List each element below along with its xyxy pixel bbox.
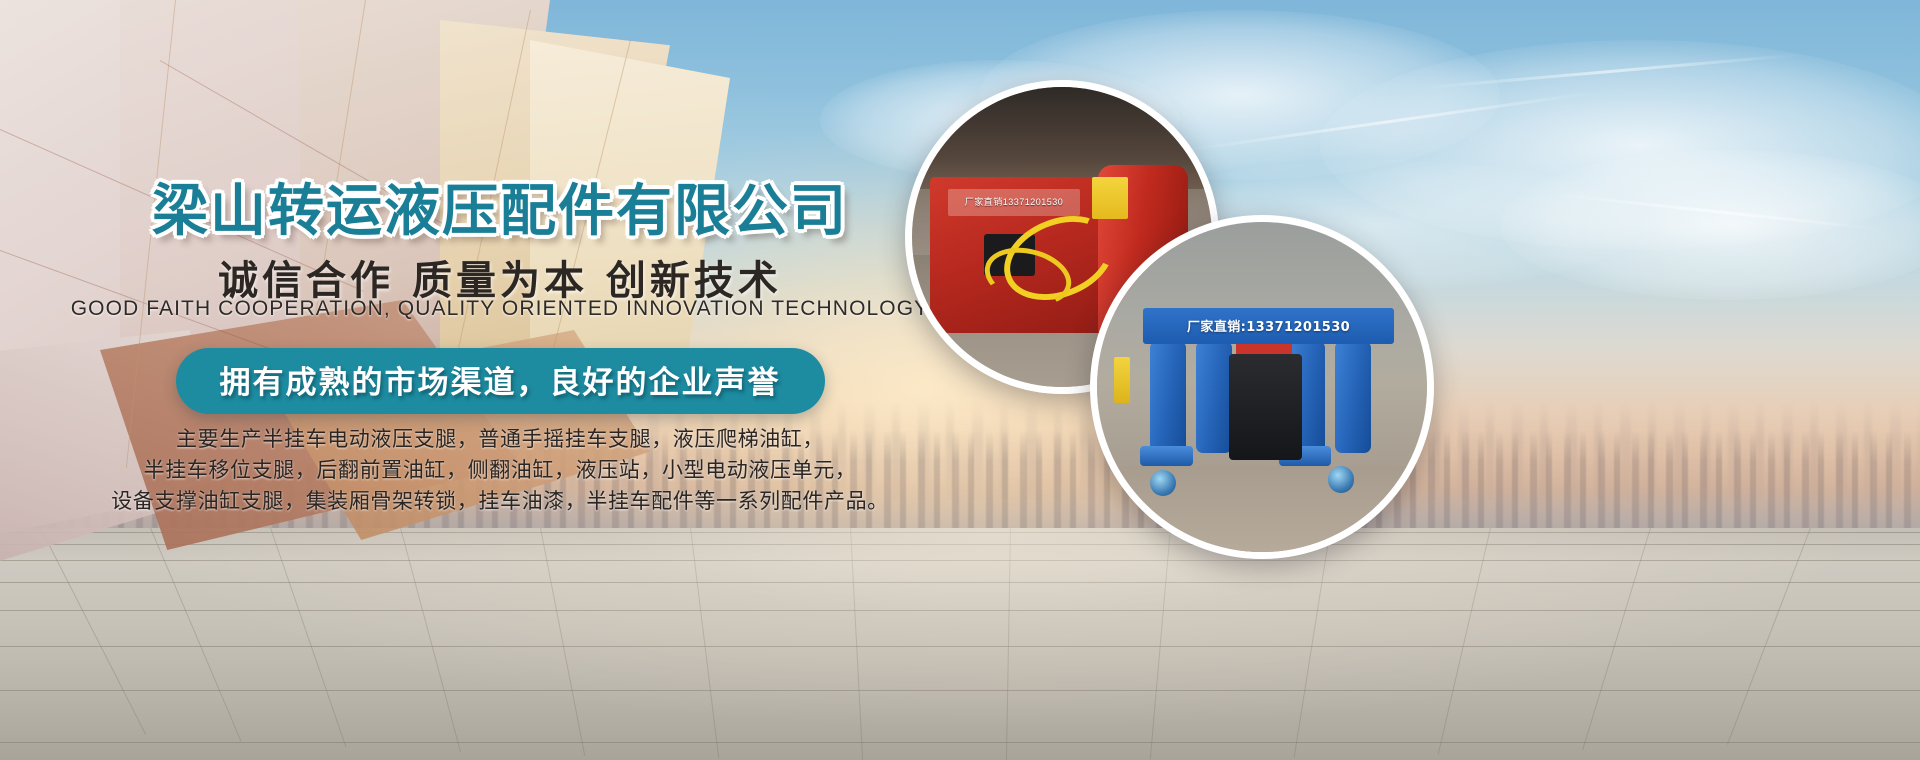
- red-machine-label: 厂家直销13371201530: [948, 189, 1080, 216]
- highlight-banner-text: 拥有成熟的市场渠道，良好的企业声誉: [220, 357, 781, 402]
- description-line-3: 设备支撑油缸支腿，集装厢骨架转锁，挂车油漆，半挂车配件等一系列配件产品。: [60, 486, 940, 517]
- blue-machine-rail: 厂家直销:13371201530: [1143, 308, 1394, 344]
- description-line-2: 半挂车移位支腿，后翻前置油缸，侧翻油缸，液压站，小型电动液压单元，: [60, 455, 940, 486]
- product-description: 主要生产半挂车电动液压支腿，普通手摇挂车支腿，液压爬梯油缸， 半挂车移位支腿，后…: [60, 424, 940, 517]
- company-title: 梁山转运液压配件有限公司: [0, 166, 1000, 247]
- description-line-1: 主要生产半挂车电动液压支腿，普通手摇挂车支腿，液压爬梯油缸，: [60, 424, 940, 455]
- hero-text-block: 梁山转运液压配件有限公司 诚信合作 质量为本 创新技术 GOOD FAITH C…: [0, 0, 1000, 620]
- hero-banner: 梁山转运液压配件有限公司 诚信合作 质量为本 创新技术 GOOD FAITH C…: [0, 0, 1920, 760]
- factory-direct-phone-text: 厂家直销:13371201530: [1187, 316, 1350, 335]
- highlight-pill: 拥有成熟的市场渠道，良好的企业声誉: [176, 348, 825, 414]
- highlight-banner: 拥有成熟的市场渠道，良好的企业声誉: [0, 348, 1000, 414]
- english-tagline: GOOD FAITH COOPERATION, QUALITY ORIENTED…: [0, 297, 1000, 321]
- product-photo-blue-machine: 厂家直销:13371201530: [1090, 215, 1434, 559]
